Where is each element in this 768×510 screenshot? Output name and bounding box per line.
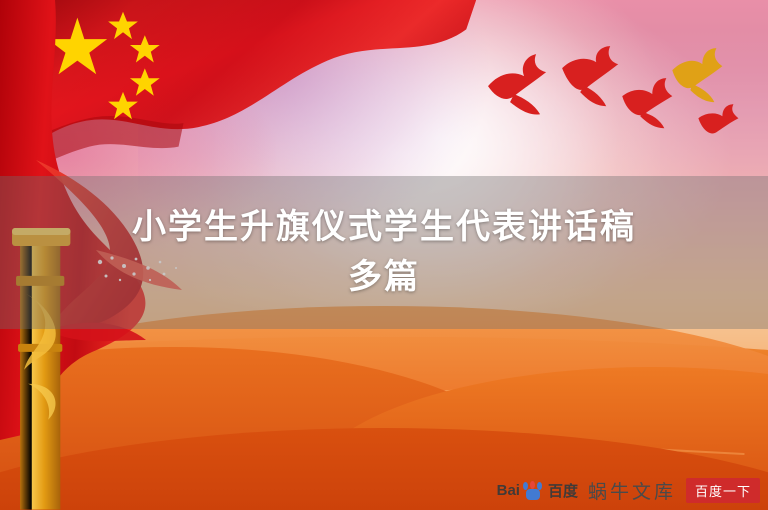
flying-doves <box>476 46 752 168</box>
baidu-paw-icon <box>521 481 547 501</box>
baidu-latin-text: Bai <box>497 482 520 499</box>
title-line-1: 小学生升旗仪式学生代表讲话稿 <box>132 203 636 251</box>
baidu-logo: Bai 百度 <box>497 480 578 501</box>
baidu-search-button[interactable]: 百度一下 <box>686 478 760 503</box>
title-line-2: 多篇 <box>348 253 420 301</box>
branding-row: Bai 百度 蜗牛文库 百度一下 <box>497 477 760 504</box>
title-banner: 小学生升旗仪式学生代表讲话稿 多篇 <box>0 176 768 329</box>
banner-image: 小学生升旗仪式学生代表讲话稿 多篇 Bai 百度 蜗牛文库 百度一下 <box>0 0 768 510</box>
baidu-cn-text: 百度 <box>548 480 578 501</box>
snail-library-watermark: 蜗牛文库 <box>588 477 676 504</box>
